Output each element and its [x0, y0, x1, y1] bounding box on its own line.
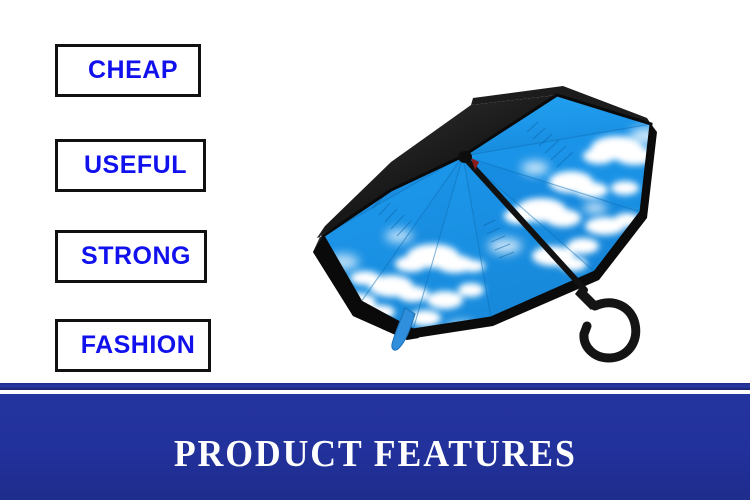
feature-box-strong: STRONG — [55, 230, 207, 283]
banner-title: PRODUCT FEATURES — [174, 432, 577, 476]
umbrella-product-image — [295, 40, 665, 385]
banner-body: PRODUCT FEATURES — [0, 394, 750, 500]
feature-label: CHEAP — [74, 58, 182, 83]
handle-tip — [584, 326, 587, 334]
feature-box-fashion: FASHION — [55, 319, 211, 372]
feature-box-useful: USEFUL — [55, 139, 206, 192]
feature-label: USEFUL — [70, 153, 191, 178]
product-features-graphic: CHEAP USEFUL STRONG FASHION — [0, 0, 750, 500]
feature-box-cheap: CHEAP — [55, 44, 201, 97]
banner-stripe — [0, 383, 750, 390]
umbrella-handle — [584, 303, 636, 358]
product-features-banner: PRODUCT FEATURES — [0, 383, 750, 500]
feature-label: FASHION — [67, 333, 200, 358]
umbrella-hub — [458, 151, 472, 163]
feature-label: STRONG — [67, 244, 195, 269]
